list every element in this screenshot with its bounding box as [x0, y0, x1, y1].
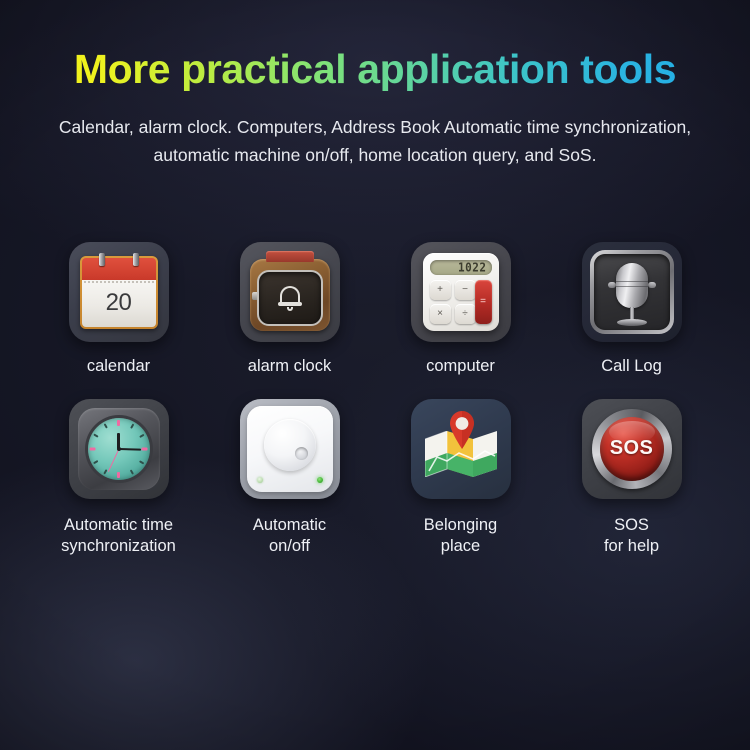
clock-tick-8 — [93, 460, 98, 464]
calculator-body: 1022 + − × ÷ = — [423, 253, 499, 331]
microphone-panel — [594, 254, 670, 330]
feature-label-call-log: Call Log — [601, 356, 662, 377]
bell-clapper — [287, 307, 293, 311]
clock-tick-4 — [139, 460, 144, 464]
calendar-icon[interactable]: 20 — [69, 242, 169, 342]
switch-knob[interactable] — [264, 419, 316, 471]
calculator-display: 1022 — [430, 260, 492, 275]
feature-item-call-log[interactable]: Call Log — [546, 242, 717, 377]
feature-item-auto-onoff[interactable]: Automatic on/off — [204, 399, 375, 557]
feature-label-belonging-place: Belonging place — [424, 515, 497, 557]
clock-minute-hand — [118, 448, 141, 451]
microphone-base — [617, 319, 647, 326]
calendar-sheet: 20 — [82, 280, 156, 327]
feature-item-sos[interactable]: SOS SOS for help — [546, 399, 717, 557]
calculator-icon[interactable]: 1022 + − × ÷ = — [411, 242, 511, 342]
sos-press-button[interactable]: SOS — [600, 417, 664, 481]
feature-item-belonging-place[interactable]: Belonging place — [375, 399, 546, 557]
dimmer-switch-icon[interactable] — [240, 399, 340, 499]
location-pin-icon — [449, 411, 475, 449]
alarm-face-panel — [257, 270, 323, 326]
promo-page: More practical application tools Calenda… — [0, 0, 750, 750]
led-indicator-on — [317, 477, 323, 483]
page-header: More practical application tools Calenda… — [0, 0, 750, 170]
calculator-key-multiply[interactable]: × — [430, 304, 451, 324]
sos-bezel-ring: SOS — [592, 409, 672, 489]
calculator-key-divide[interactable]: ÷ — [455, 304, 476, 324]
analog-clock-icon[interactable] — [69, 399, 169, 499]
microphone-arm-right — [648, 282, 656, 288]
feature-label-calendar: calendar — [87, 356, 150, 377]
feature-label-auto-onoff: Automatic on/off — [253, 515, 326, 557]
bell-icon — [278, 284, 302, 311]
calendar-header-band — [82, 258, 156, 280]
page-title: More practical application tools — [0, 48, 750, 91]
calendar-ring-left — [99, 253, 105, 266]
switch-plate — [247, 406, 333, 492]
page-subtitle: Calendar, alarm clock. Computers, Addres… — [55, 113, 695, 170]
clock-tick-9 — [90, 447, 96, 450]
clock-tick-12 — [117, 420, 120, 426]
calendar-day-number: 20 — [106, 289, 132, 317]
feature-item-alarm-clock[interactable]: alarm clock — [204, 242, 375, 377]
calculator-key-equals[interactable]: = — [475, 280, 492, 324]
clock-second-hand — [107, 448, 119, 471]
calendar-frame: 20 — [80, 256, 158, 329]
led-indicator-off — [257, 477, 263, 483]
clock-tick-10 — [93, 433, 98, 437]
calculator-key-plus[interactable]: + — [430, 280, 451, 300]
clock-tick-1 — [130, 423, 134, 428]
microphone-arm-left — [608, 282, 616, 288]
feature-item-calendar[interactable]: 20 calendar — [33, 242, 204, 377]
microphone-band-upper — [616, 281, 648, 283]
clock-face — [88, 418, 150, 480]
map-location-icon[interactable] — [411, 399, 511, 499]
sos-button-text: SOS — [610, 437, 653, 460]
clock-tick-5 — [130, 469, 134, 474]
knob-indicator-dot — [295, 447, 308, 460]
calculator-keypad: + − × ÷ — [430, 280, 476, 324]
clock-tick-6 — [117, 472, 120, 478]
clock-bezel — [78, 408, 160, 490]
feature-item-computer[interactable]: 1022 + − × ÷ = computer — [375, 242, 546, 377]
feature-label-auto-time-sync: Automatic time synchronization — [61, 515, 176, 557]
microphone-band-lower — [616, 286, 648, 288]
sos-button-icon[interactable]: SOS — [582, 399, 682, 499]
clock-tick-3 — [142, 447, 148, 450]
feature-label-sos: SOS for help — [604, 515, 659, 557]
alarm-clock-icon[interactable] — [240, 242, 340, 342]
calendar-ring-right — [133, 253, 139, 266]
microphone-icon[interactable] — [582, 242, 682, 342]
feature-label-alarm-clock: alarm clock — [248, 356, 331, 377]
calculator-key-minus[interactable]: − — [455, 280, 476, 300]
feature-label-computer: computer — [426, 356, 495, 377]
calculator-display-value: 1022 — [458, 260, 487, 275]
feature-icon-grid: 20 calendar alarm clock — [0, 242, 750, 557]
feature-item-auto-time-sync[interactable]: Automatic time synchronization — [33, 399, 204, 557]
clock-center-pin — [117, 447, 121, 451]
microphone-frame — [590, 250, 674, 334]
alarm-snooze-button — [266, 251, 314, 262]
clock-tick-11 — [103, 423, 107, 428]
clock-tick-7 — [103, 469, 107, 474]
clock-tick-2 — [139, 433, 144, 437]
